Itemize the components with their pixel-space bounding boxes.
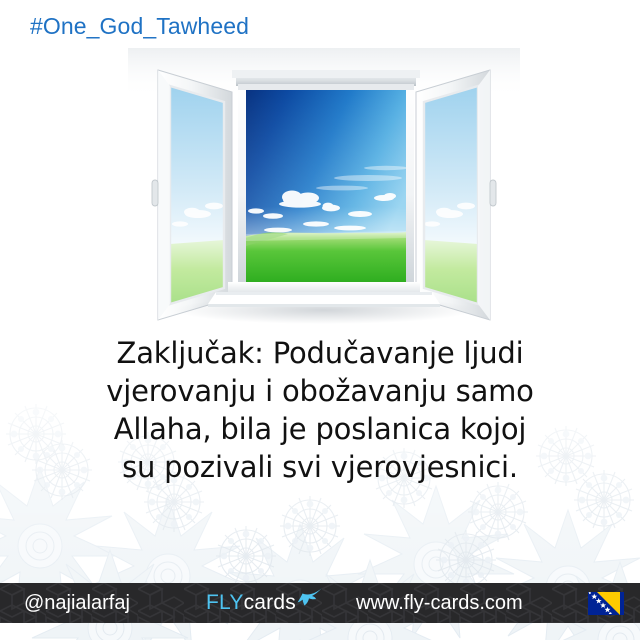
flycards-logo[interactable]: FLYcards [206,591,323,615]
bird-icon [297,587,323,614]
brand-fly-text: FLY [206,591,244,615]
footer-bar: @najialarfaj FLYcards www.fly-cards.com [0,583,640,623]
window-handle-left [152,180,158,206]
card-canvas: #One_God_Tawheed [0,0,640,640]
twitter-handle[interactable]: @najialarfaj [24,592,130,615]
quote-line-1: Zaključak: Podučavanje ljudi [40,334,600,372]
brand-cards-text: cards [244,591,296,615]
quote-line-4: su pozivali svi vjerovjesnici. [40,448,600,486]
open-window-illustration [128,48,520,333]
bosnia-flag-icon [588,592,624,615]
hashtag-label: #One_God_Tawheed [30,13,249,40]
quote-line-2: vjerovanju i obožavanju samo [40,372,600,410]
quote-line-3: Allaha, bila je poslanica kojoj [40,410,600,448]
window-handle-right [490,180,496,206]
quote-text: Zaključak: Podučavanje ljudi vjerovanju … [40,334,600,486]
website-url[interactable]: www.fly-cards.com [356,592,523,615]
